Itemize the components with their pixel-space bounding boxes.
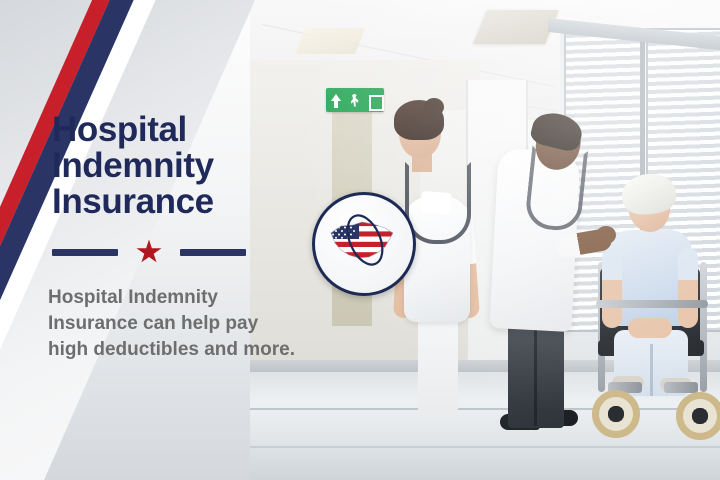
headline-line-3: Insurance — [52, 184, 282, 220]
wheelchair-wheel-left — [592, 390, 640, 438]
doctor-leg-seam — [534, 330, 537, 426]
nurse-collar — [420, 191, 451, 215]
page-title: Hospital Indemnity Insurance — [52, 112, 282, 220]
wheelchair-footrest-right — [664, 382, 698, 393]
patient-leg-seam — [650, 344, 653, 396]
logo-artwork — [315, 195, 407, 287]
star-icon — [136, 240, 162, 265]
wheelchair-wheel-right — [676, 392, 720, 440]
doctor-hand — [596, 226, 616, 244]
subtitle: Hospital Indemnity Insurance can help pa… — [48, 285, 288, 363]
subtitle-line-1: Hospital Indemnity — [48, 285, 288, 311]
divider-line-left — [52, 249, 118, 256]
patient-arm-left — [602, 248, 622, 328]
emergency-exit-sign — [326, 88, 384, 112]
nurse-hair-bun — [424, 98, 444, 116]
wheelchair-armrest — [596, 300, 708, 308]
exit-arrow-icon — [328, 92, 344, 109]
ceiling-vent — [473, 10, 559, 44]
headline-line-2: Indemnity — [52, 148, 282, 184]
divider-line-right — [180, 249, 246, 256]
running-man-icon — [347, 92, 363, 109]
exit-door-icon — [366, 92, 382, 109]
floor-seam — [250, 408, 720, 410]
hospital-indemnity-banner: Hospital Indemnity Insurance Hospital In… — [0, 0, 720, 480]
subtitle-line-2: Insurance can help pay — [48, 311, 288, 337]
ceiling-light — [295, 28, 364, 54]
usa-map-flag-logo — [312, 192, 416, 296]
subtitle-line-3: high deductibles and more. — [48, 337, 288, 363]
patient-hands — [628, 318, 672, 338]
wheelchair-frame-right — [700, 262, 707, 392]
headline-line-1: Hospital — [52, 112, 282, 148]
floor-seam — [250, 446, 720, 448]
patient-arm-right — [678, 248, 698, 328]
star-divider — [52, 240, 252, 264]
